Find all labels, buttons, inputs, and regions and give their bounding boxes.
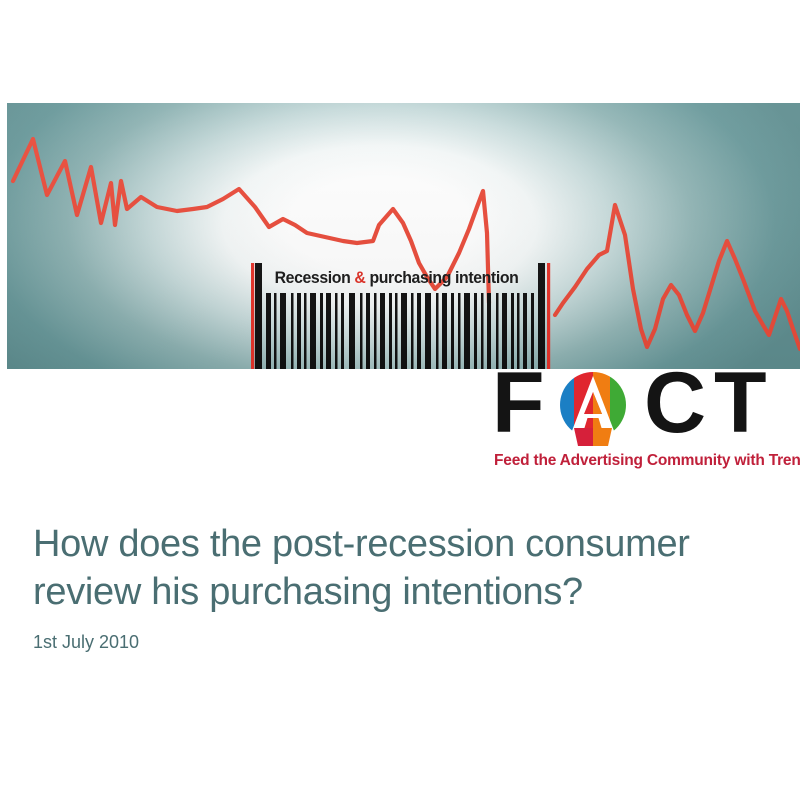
barcode-label-suffix: purchasing intention xyxy=(365,269,518,287)
barcode-label: Recession & purchasing intention xyxy=(265,267,528,289)
barcode-label-prefix: Recession xyxy=(275,269,355,287)
title-block: How does the post-recession consumer rev… xyxy=(33,520,773,653)
page-title: How does the post-recession consumer rev… xyxy=(33,520,753,616)
fact-logo: F xyxy=(492,368,782,478)
barcode-label-ampersand: & xyxy=(354,269,365,287)
chart-line-right xyxy=(555,205,800,349)
fact-wordmark: F xyxy=(492,368,782,450)
recession-banner-image: Recession & purchasing intention xyxy=(7,103,800,369)
fact-letter-t: T xyxy=(714,362,764,444)
fact-tagline: Feed the Advertising Community with Tren… xyxy=(494,452,800,470)
fact-letter-f: F xyxy=(492,362,542,444)
fact-pie-a-icon xyxy=(554,372,632,446)
slide-date: 1st July 2010 xyxy=(33,632,773,653)
fact-letter-c: C xyxy=(644,362,703,444)
barcode-graphic: Recession & purchasing intention xyxy=(247,263,557,369)
